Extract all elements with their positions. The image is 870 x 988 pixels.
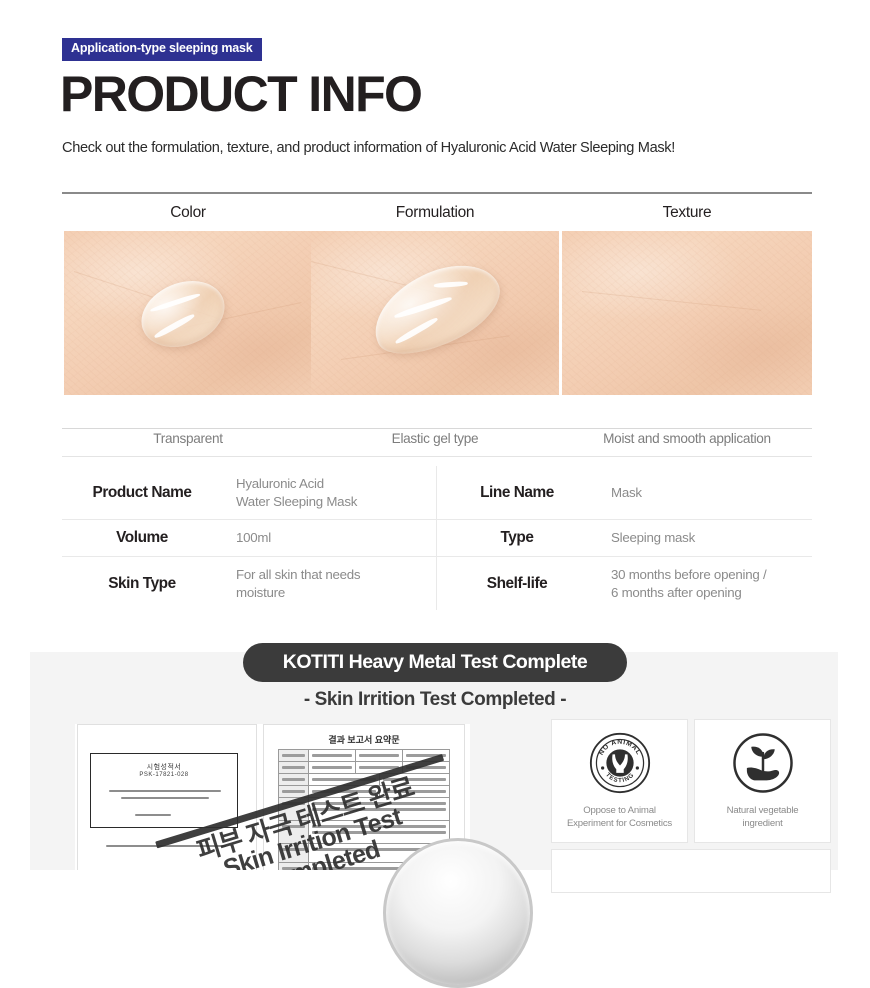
table-row: Volume 100ml Type Sleeping mask xyxy=(62,520,812,557)
table-row: Skin Type For all skin that needs moistu… xyxy=(62,557,812,610)
section-divider-bottom xyxy=(62,456,812,457)
spec-pair-left: Product Name Hyaluronic Acid Water Sleep… xyxy=(62,466,437,519)
table-cell xyxy=(309,762,356,773)
gel-highlight xyxy=(394,316,439,345)
product-info-page: Application-type sleeping mask PRODUCT I… xyxy=(0,0,870,870)
skin-texture-swatch-image xyxy=(562,231,812,395)
natural-vegetable-ingredient-icon xyxy=(732,732,794,799)
section-divider-top xyxy=(62,192,812,194)
spec-key: Product Name xyxy=(62,466,222,519)
table-cell xyxy=(279,762,309,773)
swatch-heading: Color xyxy=(64,204,312,222)
spec-pair-right: Type Sleeping mask xyxy=(437,520,812,556)
report-summary-title: 결과 보고서 요약문 xyxy=(264,733,464,746)
spec-key: Line Name xyxy=(437,466,597,519)
skin-grain-overlay xyxy=(562,231,812,395)
spec-value: Mask xyxy=(597,466,812,519)
text-line xyxy=(109,790,221,792)
swatch-column-texture: Texture Moist and smooth application xyxy=(562,204,812,446)
table-cell xyxy=(279,750,309,761)
certificate-code: PSK-17821-028 xyxy=(91,772,237,778)
spec-key: Type xyxy=(437,520,597,556)
gel-smear-swatch-image xyxy=(311,231,559,395)
product-jar-lid-image xyxy=(383,838,533,988)
swatch-heading: Formulation xyxy=(311,204,559,222)
certificate-inner-box: 시험성적서 PSK-17821-028 xyxy=(90,753,238,828)
swatch-column-color: Color Transparent xyxy=(64,204,312,446)
spec-value: Sleeping mask xyxy=(597,520,812,556)
page-subtitle: Check out the formulation, texture, and … xyxy=(62,140,675,156)
table-cell xyxy=(309,750,356,761)
spec-pair-left: Volume 100ml xyxy=(62,520,437,556)
no-animal-testing-icon: NO ANIMAL TESTING xyxy=(589,732,651,799)
spec-value: Hyaluronic Acid Water Sleeping Mask xyxy=(222,466,436,519)
gel-drop-swatch-image xyxy=(64,231,312,395)
certificate-title-ko: 시험성적서 xyxy=(91,762,237,772)
table-cell xyxy=(356,750,403,761)
spec-value: 30 months before opening / 6 months afte… xyxy=(597,557,812,610)
category-badge: Application-type sleeping mask xyxy=(62,38,262,61)
spec-pair-right: Shelf-life 30 months before opening / 6 … xyxy=(437,557,812,610)
certification-badge-natural-vegetable: Natural vegetable ingredient xyxy=(694,719,831,843)
table-cell xyxy=(279,774,309,785)
certification-badge-caption: Natural vegetable ingredient xyxy=(721,805,805,831)
gel-highlight xyxy=(434,281,468,288)
swatch-caption: Moist and smooth application xyxy=(562,395,812,446)
spec-pair-right: Line Name Mask xyxy=(437,466,812,519)
certification-badge-extra xyxy=(551,849,831,893)
gel-highlight xyxy=(150,292,201,313)
gel-highlight xyxy=(153,313,195,340)
text-line xyxy=(135,814,171,816)
test-certificate-images: 시험성적서 PSK-17821-028 결과 보고서 요약문 xyxy=(75,724,470,870)
product-spec-table: Product Name Hyaluronic Acid Water Sleep… xyxy=(62,466,812,610)
certification-badge-no-animal-testing: NO ANIMAL TESTING Oppose to Animal Exper… xyxy=(551,719,688,843)
swatch-caption: Elastic gel type xyxy=(311,395,559,446)
page-title: PRODUCT INFO xyxy=(60,68,421,121)
table-row: Product Name Hyaluronic Acid Water Sleep… xyxy=(62,466,812,520)
spec-pair-left: Skin Type For all skin that needs moistu… xyxy=(62,557,437,610)
swatch-column-formulation: Formulation Elastic gel type xyxy=(311,204,559,446)
spec-key: Skin Type xyxy=(62,557,222,610)
text-line xyxy=(121,797,209,799)
spec-key: Volume xyxy=(62,520,222,556)
skin-irritation-test-heading: - Skin Irrition Test Completed - xyxy=(0,689,870,711)
kotiti-test-badge: KOTITI Heavy Metal Test Complete xyxy=(243,643,627,682)
spec-key: Shelf-life xyxy=(437,557,597,610)
spec-value: 100ml xyxy=(222,520,436,556)
swatch-caption: Transparent xyxy=(64,395,312,446)
certification-badge-caption: Oppose to Animal Experiment for Cosmetic… xyxy=(561,805,678,831)
swatch-heading: Texture xyxy=(562,204,812,222)
gel-highlight xyxy=(394,295,453,319)
spec-value: For all skin that needs moisture xyxy=(222,557,436,610)
